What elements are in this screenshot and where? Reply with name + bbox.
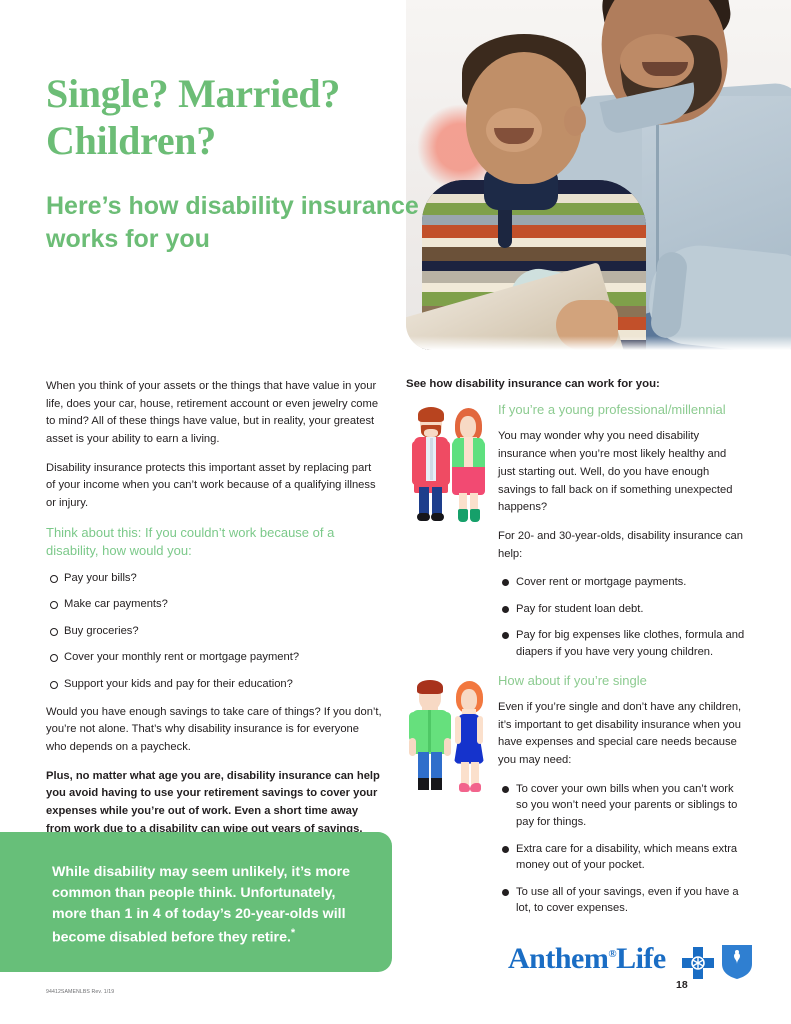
page-number: 18 [676, 979, 688, 991]
list-item: To use all of your savings, even if you … [498, 884, 746, 917]
list-item: Make car payments? [46, 596, 382, 613]
section-bullet-list: To cover your own bills when you can’t w… [498, 781, 746, 917]
section-paragraph-1: Even if you’re single and don’t have any… [498, 699, 746, 770]
callout-sentence: While disability may seem unlikely, it’s… [52, 864, 350, 946]
section-young-professional-text: If you’re a young professional/millennia… [498, 401, 746, 661]
callout-text: While disability may seem unlikely, it’s… [52, 862, 372, 949]
father-face [620, 34, 694, 88]
paragraph-bold-emphasis: Plus, no matter what age you are, disabi… [46, 768, 382, 839]
couple-casual-illustration [406, 676, 484, 796]
think-about-this-heading: Think about this: If you couldn’t work b… [46, 524, 382, 561]
list-item: Pay your bills? [46, 570, 382, 587]
section-young-professional: If you’re a young professional/millennia… [406, 401, 746, 661]
paragraph-after-bullets: Would you have enough savings to take ca… [46, 704, 382, 757]
list-item: Pay for big expenses like clothes, formu… [498, 627, 746, 660]
list-item: To cover your own bills when you can’t w… [498, 781, 746, 831]
hero-bottom-fade [406, 336, 791, 350]
couple-professional-illustration [406, 405, 484, 525]
logo-anthem-text: Anthem [508, 942, 608, 975]
intro-paragraph-2: Disability insurance protects this impor… [46, 460, 382, 513]
document-code: 94412SAMENLBS Rev. 1/19 [46, 989, 114, 995]
list-item: Extra care for a disability, which means… [498, 841, 746, 874]
section-heading: If you’re a young professional/millennia… [498, 401, 746, 419]
registered-mark-icon: ® [608, 948, 616, 960]
section-heading: How about if you’re single [498, 672, 746, 690]
right-column: See how disability insurance can work fo… [406, 378, 746, 928]
page-title: Single? Married? Children? [46, 70, 426, 164]
list-item: Cover rent or mortgage payments. [498, 574, 746, 591]
intro-paragraph-1: When you think of your assets or the thi… [46, 378, 382, 449]
logo-life-text: Life [616, 942, 666, 975]
list-item: Buy groceries? [46, 623, 382, 640]
left-column: When you think of your assets or the thi… [46, 378, 382, 849]
list-item: Pay for student loan debt. [498, 601, 746, 618]
section-bullet-list: Cover rent or mortgage payments. Pay for… [498, 574, 746, 660]
list-item: Support your kids and pay for their educ… [46, 676, 382, 693]
blue-shield-icon [722, 945, 752, 979]
anthem-life-logo: Anthem®Life [508, 944, 754, 984]
page-subtitle: Here’s how disability insurance works fo… [46, 190, 476, 256]
child-ear [564, 106, 586, 136]
left-bullet-list: Pay your bills? Make car payments? Buy g… [46, 570, 382, 693]
list-item: Cover your monthly rent or mortgage paym… [46, 649, 382, 666]
right-column-kicker: See how disability insurance can work fo… [406, 378, 746, 390]
footnote-marker: * [291, 927, 295, 939]
father-smile [642, 62, 688, 76]
statistic-callout-box: While disability may seem unlikely, it’s… [0, 832, 392, 972]
blue-cross-blue-shield-marks [682, 945, 754, 979]
section-single-text: How about if you’re single Even if you’r… [498, 672, 746, 917]
section-paragraph-2: For 20- and 30-year-olds, disability ins… [498, 528, 746, 563]
section-single: How about if you’re single Even if you’r… [406, 672, 746, 917]
blue-cross-icon [682, 947, 714, 979]
section-paragraph-1: You may wonder why you need disability i… [498, 428, 746, 516]
hero-photo [406, 0, 791, 350]
document-page: Single? Married? Children? Here’s how di… [0, 0, 791, 1024]
